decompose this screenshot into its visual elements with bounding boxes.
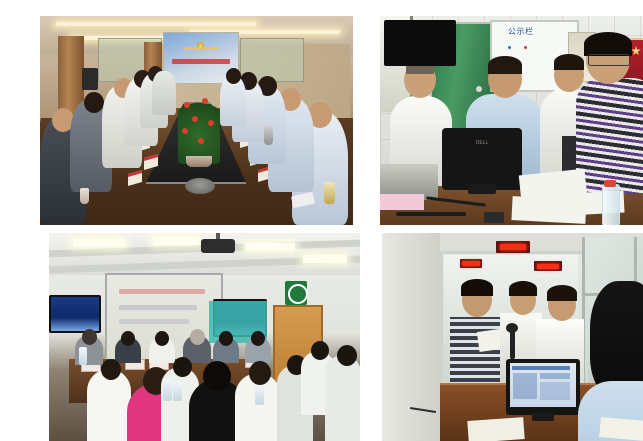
water-bottle (173, 381, 182, 401)
slide-title-line (119, 289, 205, 294)
flower-4 (208, 120, 214, 126)
water-bottle (163, 379, 172, 401)
flower-arrangement (178, 94, 220, 164)
desktop-monitor (442, 128, 522, 190)
wall-monitor-left-screen (51, 297, 99, 331)
flower-2 (202, 98, 208, 104)
bottle-cap (604, 180, 616, 187)
photo-bottom-left[interactable]: Training session in a lecture room with … (49, 233, 360, 441)
monitor-brand-label: DELL (474, 140, 490, 146)
panel-head (155, 331, 169, 346)
man-3-hair (554, 54, 584, 70)
screen-title-line (172, 59, 230, 64)
photo-top-right[interactable]: 公示栏 DELL (380, 16, 643, 225)
flower-pot (186, 156, 212, 167)
flower-3 (192, 116, 198, 122)
whiteboard-title: 公示栏 (508, 26, 534, 37)
magnet-dot-blue (508, 46, 511, 49)
photo-bottom-right[interactable]: Service counter: three men hand document… (382, 233, 643, 441)
lecture-room-scene (49, 233, 360, 441)
visitor-1-striped-shirt (450, 317, 500, 389)
man-4-hair (584, 32, 632, 56)
photo-collage-grid: Conference room meeting around a long da… (0, 0, 643, 425)
led-digits (537, 264, 559, 269)
audience-head (173, 357, 192, 377)
app-title-bar (512, 366, 570, 370)
visitor-2-hair (509, 281, 537, 296)
panel-head (219, 331, 233, 346)
slide-body-line-2 (119, 319, 189, 324)
ceiling-light-1 (55, 22, 256, 26)
conference-room-scene (40, 16, 353, 225)
flower-1 (184, 102, 190, 108)
panel-head (121, 331, 135, 346)
flower-6 (198, 138, 204, 144)
monitor-stand (468, 184, 496, 194)
intercom-microphone (510, 329, 515, 359)
audience-head (311, 341, 329, 360)
panel-head (251, 331, 265, 346)
app-toolbar (540, 373, 570, 379)
thermos (264, 126, 273, 145)
water-bottle (602, 184, 620, 225)
clerk-monitor-stand (532, 413, 554, 421)
ceiling-lamp-3 (245, 243, 295, 251)
paper-stack-pink (380, 194, 424, 210)
photo-top-left[interactable]: Conference room meeting around a long da… (40, 16, 353, 225)
panel-head (82, 329, 97, 345)
door-handle-icon (476, 86, 482, 92)
man-4-striped-shirt (576, 78, 643, 194)
visitor-1-hair (461, 279, 493, 296)
counter-documents-left (467, 417, 524, 441)
man-2-hair (488, 56, 522, 74)
attendee-head (84, 92, 104, 113)
table-cup (80, 188, 89, 204)
attendee-left-6 (152, 71, 176, 115)
monitor-screen (384, 20, 456, 66)
audience-head (249, 361, 271, 385)
counter-documents-right (599, 417, 643, 441)
led-digits (500, 244, 526, 250)
water-bottle (255, 385, 264, 405)
magnet-dot-red (524, 46, 527, 49)
screen-subtitle-line (184, 47, 218, 50)
table-cup (324, 182, 335, 204)
led-digits (462, 261, 480, 266)
cable (396, 212, 466, 216)
no-smoking-sign-icon (285, 281, 307, 305)
ceiling-lamp-2 (153, 237, 199, 245)
workshop-office-scene: 公示栏 DELL (380, 16, 643, 225)
mobile-phone (484, 212, 504, 223)
attendee-head (226, 68, 241, 84)
app-left-pane (513, 373, 537, 399)
speaker-box (82, 68, 98, 90)
audience-member (325, 355, 360, 441)
water-bottle (79, 347, 87, 365)
flower-5 (182, 128, 188, 134)
audience-head (203, 361, 231, 391)
ceiling-projector (201, 239, 235, 253)
glasses-icon (588, 54, 630, 66)
table-ashtray (185, 178, 215, 194)
ceiling-lamp-4 (303, 255, 347, 263)
panel-head (190, 329, 205, 345)
audience-head (101, 359, 121, 380)
slide-body-line-1 (119, 305, 197, 310)
visitor-3-hair (547, 285, 577, 301)
app-content-pane (540, 382, 570, 400)
service-counter-scene (382, 233, 643, 441)
audience-head (337, 345, 357, 366)
ceiling-lamp-1 (73, 239, 125, 247)
